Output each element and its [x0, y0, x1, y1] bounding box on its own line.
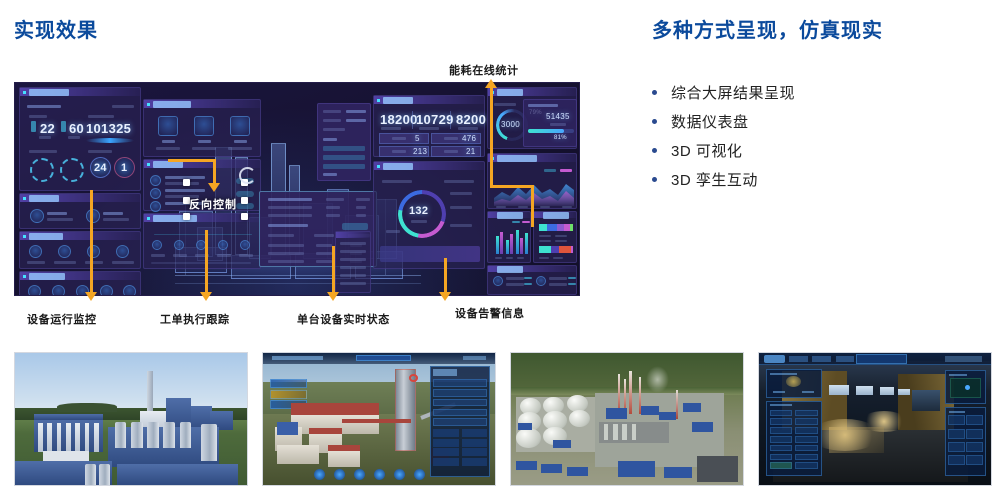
dashboard-canvas: 22 60 101325 24 1: [15, 83, 579, 295]
panel-energy-stacked-chart[interactable]: [533, 211, 577, 263]
arrow-head-up-icon: [485, 79, 497, 88]
bullet-dot-icon: [652, 177, 657, 182]
panel-energy-summary[interactable]: 51435 81%: [523, 99, 577, 147]
donut-center-value: 132: [409, 205, 428, 217]
arrow-shaft: [332, 246, 335, 294]
panel-device-list[interactable]: [19, 271, 141, 296]
stat-value-c: 8200: [456, 112, 486, 127]
panel-workorder-summary[interactable]: [143, 99, 261, 157]
mini-stat-c: 213: [413, 147, 427, 156]
thumbnail-indoor-factory-monitoring[interactable]: [758, 352, 992, 486]
list-item-label: 数据仪表盘: [671, 111, 749, 132]
panel-equipment-monitor[interactable]: 22 60 101325 24 1: [19, 87, 141, 191]
arrow-shaft: [213, 159, 216, 185]
slide-root: 实现效果 多种方式呈现，仿真现实 综合大屏结果呈现 数据仪表盘 3D 可视化 3…: [0, 0, 1000, 498]
thumbnail-aerial-refinery[interactable]: [510, 352, 744, 486]
energy-total-value: 51435: [546, 112, 570, 121]
mini-stat-a: 5: [415, 134, 420, 143]
panel-production-stats[interactable]: 18200 10729 8200 5 476 213 21: [373, 95, 485, 157]
mini-stat-b: 476: [462, 134, 476, 143]
handle-node[interactable]: [183, 179, 190, 186]
panel-electricity-bar-chart[interactable]: [487, 211, 531, 263]
panel-alarm-distribution[interactable]: 132: [373, 161, 485, 269]
arrow-shaft: [444, 258, 447, 294]
arrow-head-down-icon: [327, 292, 339, 301]
bullet-dot-icon: [652, 119, 657, 124]
page-title-right: 多种方式呈现，仿真现实: [652, 14, 883, 43]
bullet-dot-icon: [652, 90, 657, 95]
panel-alarm-list[interactable]: [335, 231, 371, 293]
arrow-shaft: [490, 185, 534, 188]
arrow-head-down-icon: [208, 183, 220, 192]
thumbnail-3d-chemical-plant[interactable]: [14, 352, 248, 486]
list-item-label: 3D 孪生互动: [671, 169, 758, 190]
metric-alarm-count: 24: [94, 162, 107, 174]
callout-label-3: 单台设备实时状态: [297, 311, 390, 327]
panel-device-status[interactable]: [19, 231, 141, 269]
reverse-control-label: 反向控制: [189, 196, 237, 212]
arrow-shaft: [168, 159, 216, 162]
dashboard-screenshot: 22 60 101325 24 1: [14, 82, 580, 296]
energy-percent-value: 81%: [554, 135, 567, 141]
list-item-label: 综合大屏结果呈现: [671, 82, 795, 103]
list-item: 综合大屏结果呈现: [652, 78, 982, 107]
panel-device-summary-bottom[interactable]: [487, 265, 577, 295]
callout-label-1: 设备运行监控: [27, 311, 97, 327]
mini-stat-d: 21: [466, 147, 476, 156]
energy-area-chart: [494, 176, 574, 206]
list-item: 3D 可视化: [652, 136, 982, 165]
gauge-ring: [60, 158, 84, 182]
gauge-ring: [30, 158, 54, 182]
arrow-shaft: [490, 88, 493, 188]
thumbnail-digital-twin-cement[interactable]: [262, 352, 496, 486]
arrow-head-down-icon: [200, 292, 212, 301]
panel-right-radar[interactable]: [945, 370, 987, 404]
list-item: 3D 孪生互动: [652, 165, 982, 194]
metric-pressure: 101325: [86, 121, 131, 136]
panel-device-category[interactable]: [19, 193, 141, 229]
metric-humidity: 60: [69, 121, 84, 136]
arrow-head-down-icon: [85, 292, 97, 301]
panel-device-info-card[interactable]: [317, 103, 371, 181]
panel-left-list[interactable]: [766, 401, 822, 476]
panel-right-grid[interactable]: [945, 407, 987, 476]
list-item: 数据仪表盘: [652, 107, 982, 136]
metric-fault-count: 1: [121, 162, 127, 174]
stat-value-b: 10729: [416, 112, 454, 127]
arrow-shaft: [90, 190, 93, 294]
arrow-head-down-icon: [439, 292, 451, 301]
feature-list: 综合大屏结果呈现 数据仪表盘 3D 可视化 3D 孪生互动: [652, 78, 982, 194]
refresh-icon[interactable]: [239, 167, 256, 184]
callout-label-2: 工单执行跟踪: [160, 311, 230, 327]
page-title-left: 实现效果: [14, 14, 98, 43]
callout-label-energy: 能耗在线统计: [449, 62, 519, 78]
handle-node[interactable]: [183, 213, 190, 220]
panel-left-top[interactable]: [766, 369, 822, 398]
arrow-shaft: [531, 185, 534, 227]
list-item-label: 3D 可视化: [671, 140, 742, 161]
thumbnail-gallery: [14, 352, 986, 486]
handle-node[interactable]: [241, 213, 248, 220]
panel-device-topology[interactable]: [143, 213, 261, 269]
callout-label-4: 设备告警信息: [455, 305, 525, 321]
arrow-shaft: [205, 230, 208, 294]
gauge-value: 3000: [501, 120, 520, 129]
bullet-dot-icon: [652, 148, 657, 153]
metric-temperature: 22: [40, 121, 55, 136]
handle-node[interactable]: [241, 197, 248, 204]
